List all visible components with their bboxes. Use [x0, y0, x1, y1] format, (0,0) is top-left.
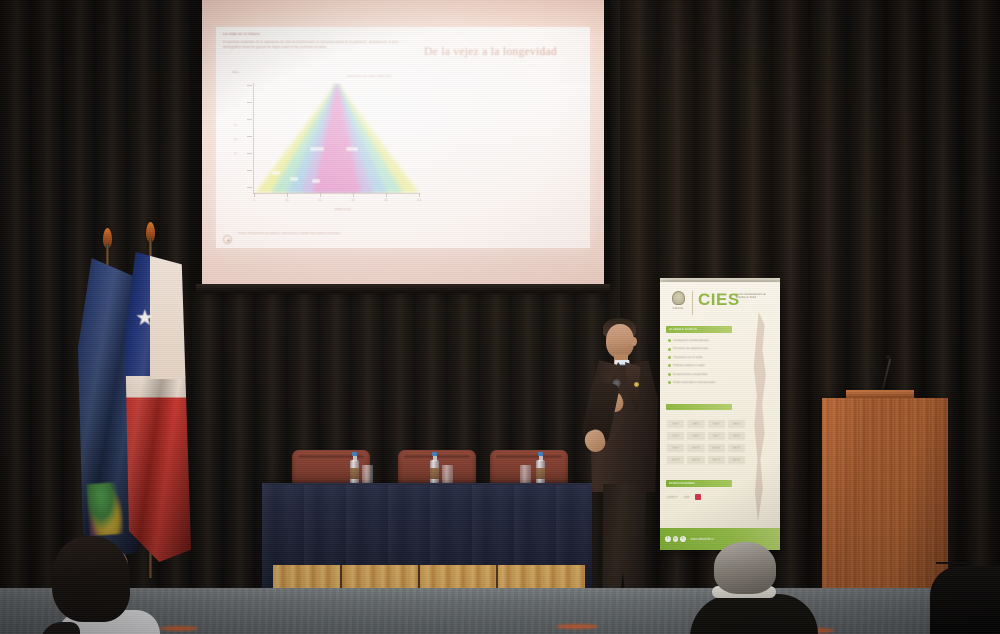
bottle-label [430, 468, 439, 479]
partner-logo-cell: logo-10 [687, 444, 704, 452]
bullet-label: Redes nacionales e internacionales [673, 381, 715, 384]
banner-section-title-1: QUIENES SOMOS [669, 327, 697, 331]
cies-subtitle: Centro Interdisciplinario de Estudios en… [736, 293, 776, 300]
partner-logo-cell: logo-3 [708, 420, 725, 428]
partner-logo-cell: logo-4 [728, 420, 745, 428]
inta-podium: INTA [822, 398, 948, 620]
bullet-label: Formacion de capital humano [673, 347, 708, 350]
partner-logo-cell: logo-13 [667, 456, 684, 464]
speaker-ear [631, 337, 637, 346]
banner-bullet-list: Investigacion interdisciplinaria Formaci… [668, 339, 730, 389]
audience-person-far-right [930, 566, 1000, 634]
bottle-label [350, 468, 359, 479]
partner-logo-cell: logo-16 [728, 456, 745, 464]
partner-logo-cell: logo-9 [667, 444, 684, 452]
list-item: Politicas publicas en salud [668, 364, 730, 367]
shield-icon [672, 291, 685, 305]
partner-logo-cell: logo-1 [667, 420, 684, 428]
partner-logo-cell: logo-6 [687, 432, 704, 440]
banner-section-bar-2 [666, 404, 732, 410]
lapel-pin [634, 382, 639, 387]
speaker-head [606, 324, 634, 358]
floor-marker [556, 624, 598, 629]
cies-rollup-banner: CIESCH CIES Centro Interdisciplinario de… [660, 282, 780, 550]
bullet-label: Investigacion interdisciplinaria [673, 339, 709, 342]
partner-logo-cell: logo-2 [687, 420, 704, 428]
audience-neighbor-shoulder [40, 622, 80, 634]
partner-logo-cell: logo-8 [728, 432, 745, 440]
chile-national-flag: ★ [125, 252, 191, 562]
audience-torso [690, 594, 818, 634]
auditorium-scene: La vida en el futuro El aumento sostenid… [0, 0, 1000, 634]
audience-woman-front-left [40, 536, 160, 634]
partner-logo-cell: logo-14 [687, 456, 704, 464]
bullet-icon [668, 339, 671, 342]
audience-person-front-right [688, 542, 820, 634]
sponsor-row: CONICYT ANID [667, 494, 741, 500]
bullet-icon [668, 364, 671, 367]
partner-logo-grid: logo-1 logo-2 logo-3 logo-4 logo-5 logo-… [667, 420, 745, 464]
floor-cable [936, 548, 976, 564]
projection-screen-bottom-bar [196, 284, 610, 293]
bullet-label: Politicas publicas en salud [673, 364, 705, 367]
partner-logo-cell: logo-15 [708, 456, 725, 464]
partner-logo-cell: logo-12 [728, 444, 745, 452]
partner-logo-cell: logo-5 [667, 432, 684, 440]
list-item: Redes nacionales e internacionales [668, 381, 730, 384]
bullet-label: Vinculacion con el medio [673, 356, 703, 359]
bullet-icon [668, 373, 671, 376]
chile-map-graphic [746, 312, 776, 522]
banner-section-title-3: PATROCINADORES [669, 481, 695, 485]
microphone-capsule-icon [886, 355, 891, 359]
facebook-icon: f [665, 536, 671, 542]
sponsor-mark-icon [695, 494, 701, 500]
audience-hair [714, 542, 776, 594]
projector-glow [202, 0, 604, 284]
partner-logo-cell: logo-7 [708, 432, 725, 440]
partner-logo: CIESCH [668, 291, 688, 315]
instagram-icon: ◎ [673, 536, 679, 542]
list-item: Investigacion interdisciplinaria [668, 339, 730, 342]
list-item: Envejecimiento y longevidad [668, 373, 730, 376]
bullet-icon [668, 381, 671, 384]
bullet-icon [668, 348, 671, 351]
list-item: Vinculacion con el medio [668, 356, 730, 359]
partner-logo-label: CIESCH [668, 307, 688, 310]
sponsor-label: ANID [684, 496, 690, 499]
floor-marker [160, 626, 198, 631]
audience-hair [52, 536, 130, 622]
bullet-icon [668, 356, 671, 359]
sponsor-label: CONICYT [667, 496, 678, 499]
logo-divider [692, 291, 693, 315]
partner-logo-cell: logo-11 [708, 444, 725, 452]
bullet-label: Envejecimiento y longevidad [673, 373, 707, 376]
twitter-icon: t [680, 536, 686, 542]
list-item: Formacion de capital humano [668, 347, 730, 350]
banner-website-url: www.cieschile.cl [691, 537, 714, 541]
bottle-label [536, 468, 545, 479]
cies-wordmark: CIES [698, 290, 740, 310]
